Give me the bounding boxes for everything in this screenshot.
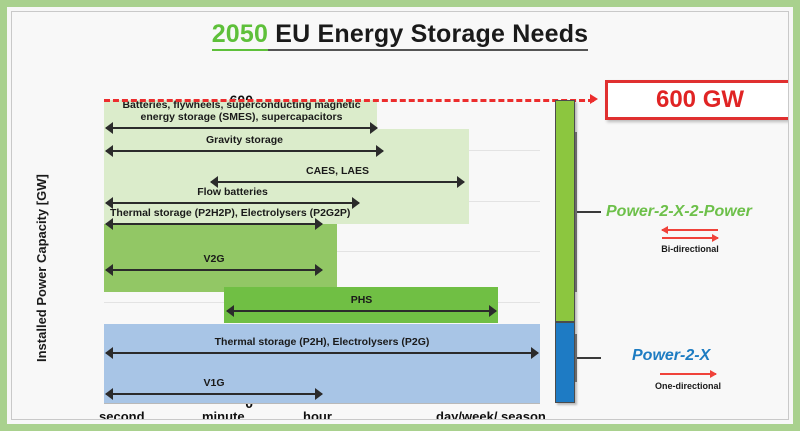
title-rest: EU Energy Storage Needs bbox=[268, 20, 588, 51]
arrow-label-caes: CAES, LAES bbox=[211, 165, 464, 177]
arrow-head-right-icon bbox=[315, 218, 323, 230]
arrow-head-left-icon bbox=[105, 145, 113, 157]
leader-line-p2x2p bbox=[575, 211, 601, 213]
x-tick-minute: minute bbox=[202, 409, 245, 420]
arrow-label-v2g: V2G bbox=[106, 253, 322, 265]
total-capacity-stacked-bar bbox=[555, 100, 575, 403]
arrow-line bbox=[662, 229, 718, 231]
x-tick-day-week-season: day/week/ season bbox=[436, 409, 546, 420]
arrow-gravity-storage: Gravity storage bbox=[106, 145, 383, 157]
arrow-head-left-icon bbox=[105, 264, 113, 276]
arrow-label-flow: Flow batteries bbox=[106, 186, 359, 198]
arrow-thermal-p2h2p: Thermal storage (P2H2P), Electrolysers (… bbox=[106, 218, 322, 230]
leader-line-p2x bbox=[575, 357, 601, 359]
arrow-label-batteries-l2: energy storage (SMES), supercapacitors bbox=[141, 111, 343, 123]
x-tick-hour: hour bbox=[303, 409, 332, 420]
legend-arrow-one-direction bbox=[660, 370, 716, 378]
legend-arrow-right bbox=[662, 234, 718, 242]
stacked-segment-p2x2p bbox=[555, 100, 575, 322]
arrow-head-left-icon bbox=[105, 347, 113, 359]
arrow-head-left-icon bbox=[105, 388, 113, 400]
arrow-head-left-icon bbox=[226, 305, 234, 317]
arrow-batteries: Batteries, flywheels, superconducting ma… bbox=[106, 122, 377, 134]
arrow-line bbox=[106, 352, 538, 354]
arrow-head-right-icon bbox=[712, 234, 719, 242]
arrow-line bbox=[227, 310, 496, 312]
title-year: 2050 bbox=[212, 20, 268, 51]
y-axis-title: Installed Power Capacity [GW] bbox=[34, 162, 49, 362]
legend-title-p2x2p: Power-2-X-2-Power bbox=[606, 203, 752, 221]
arrow-line bbox=[106, 150, 383, 152]
slide-frame: 2050 EU Energy Storage Needs Installed P… bbox=[0, 0, 800, 431]
arrow-line bbox=[106, 269, 322, 271]
arrow-line bbox=[106, 127, 377, 129]
arrow-phs: PHS bbox=[227, 305, 496, 317]
arrow-head-right-icon bbox=[370, 122, 378, 134]
arrow-line bbox=[106, 223, 322, 225]
page-title: 2050 EU Energy Storage Needs bbox=[12, 20, 788, 49]
callout-600gw: 600 GW bbox=[605, 80, 789, 120]
arrow-label-phs: PHS bbox=[227, 294, 496, 306]
arrow-head-right-icon bbox=[315, 264, 323, 276]
arrow-head-left-icon bbox=[661, 226, 668, 234]
arrow-line bbox=[106, 202, 359, 204]
arrow-head-right-icon bbox=[531, 347, 539, 359]
callout-value: 600 GW bbox=[656, 86, 744, 114]
arrow-line bbox=[660, 373, 716, 375]
arrow-line bbox=[211, 181, 464, 183]
arrow-label-thermal-p2h2p: Thermal storage (P2H2P), Electrolysers (… bbox=[106, 207, 326, 219]
arrow-thermal-p2h: Thermal storage (P2H), Electrolysers (P2… bbox=[106, 347, 538, 359]
arrow-head-left-icon bbox=[105, 218, 113, 230]
arrow-label-gravity: Gravity storage bbox=[106, 134, 383, 146]
slide-inner: 2050 EU Energy Storage Needs Installed P… bbox=[11, 11, 789, 420]
arrow-v1g: V1G bbox=[106, 388, 322, 400]
bracket-p2x2p bbox=[575, 132, 577, 292]
arrow-line bbox=[106, 393, 322, 395]
arrow-head-right-icon bbox=[315, 388, 323, 400]
dashed-line-arrow-icon bbox=[590, 94, 598, 104]
arrow-v2g: V2G bbox=[106, 264, 322, 276]
legend-arrow-left bbox=[662, 226, 718, 234]
x-tick-second: second bbox=[99, 409, 145, 420]
arrow-head-right-icon bbox=[457, 176, 465, 188]
plot-area: Batteries, flywheels, superconducting ma… bbox=[104, 100, 540, 403]
arrow-label-v1g: V1G bbox=[106, 377, 322, 389]
legend-sub-bidirectional: Bi-directional bbox=[630, 244, 750, 254]
arrow-line bbox=[662, 237, 718, 239]
axis-baseline bbox=[104, 403, 540, 404]
stacked-segment-p2x bbox=[555, 322, 575, 403]
arrow-head-right-icon bbox=[352, 197, 360, 209]
target-dashed-line bbox=[104, 99, 594, 102]
arrow-head-right-icon bbox=[710, 370, 717, 378]
arrow-head-right-icon bbox=[489, 305, 497, 317]
arrow-head-right-icon bbox=[376, 145, 384, 157]
arrow-head-left-icon bbox=[105, 122, 113, 134]
bracket-p2x bbox=[575, 334, 577, 382]
legend-sub-onedirectional: One-directional bbox=[632, 381, 744, 391]
legend-title-p2x: Power-2-X bbox=[632, 347, 710, 365]
arrow-label-thermal-p2h: Thermal storage (P2H), Electrolysers (P2… bbox=[106, 336, 538, 348]
